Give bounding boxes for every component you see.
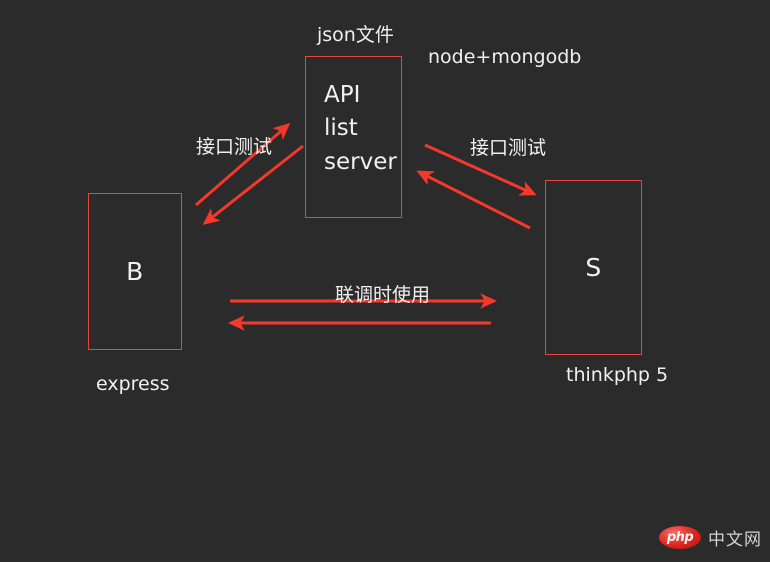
watermark: php 中文网 bbox=[659, 525, 762, 550]
server-s-label: S bbox=[585, 254, 601, 282]
api-label-line-1: API bbox=[324, 79, 397, 112]
api-label-line-3: server bbox=[324, 146, 397, 179]
watermark-site-text: 中文网 bbox=[708, 525, 762, 550]
arrow-right-interface-test-2 bbox=[419, 172, 530, 228]
client-b-label: B bbox=[126, 258, 144, 286]
json-file-caption: json文件 bbox=[317, 20, 394, 47]
node-client-b[interactable]: B bbox=[88, 193, 182, 350]
php-logo-icon: php bbox=[659, 526, 701, 549]
arrow-label-joint-debug: 联调时使用 bbox=[335, 280, 430, 307]
node-mongodb-caption: node+mongodb bbox=[428, 46, 581, 68]
api-label-line-2: list bbox=[324, 112, 397, 145]
node-api-server[interactable]: API list server bbox=[305, 56, 402, 218]
express-caption: express bbox=[96, 373, 170, 395]
arrow-label-left-interface-test: 接口测试 bbox=[196, 132, 272, 159]
arrow-label-right-interface-test: 接口测试 bbox=[470, 133, 546, 160]
api-server-label: API list server bbox=[324, 79, 397, 179]
node-server-s[interactable]: S bbox=[545, 180, 642, 355]
thinkphp-caption: thinkphp 5 bbox=[566, 364, 668, 386]
diagram-canvas: API list server B S json文件 node+mongodb … bbox=[0, 0, 770, 562]
